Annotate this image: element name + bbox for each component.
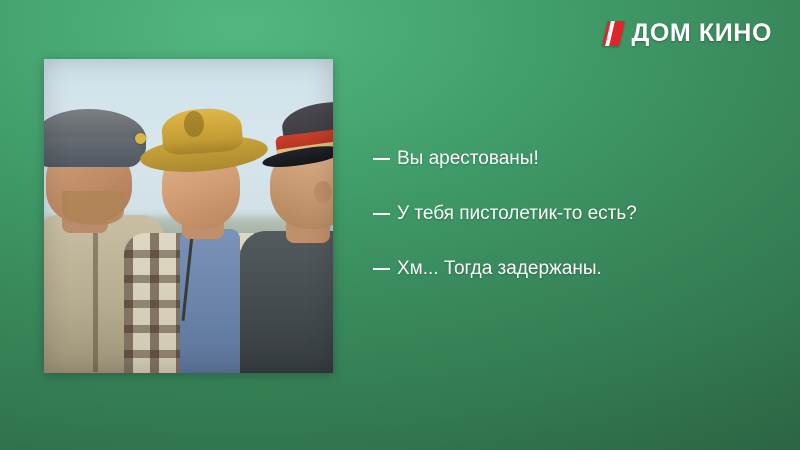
dialogue-line: У тебя пистолетик-то есть? (373, 186, 773, 241)
em-dash-icon (373, 268, 390, 270)
ushanka-man-beard (62, 191, 124, 225)
militia-officer (240, 103, 333, 373)
cowboy-hat-dent (184, 111, 204, 137)
dialogue-block: Вы арестованы! У тебя пистолетик-то есть… (373, 131, 773, 296)
dialogue-line-text: Вы арестованы! (397, 148, 539, 169)
channel-logo-text: ДОМ КИНО (631, 21, 772, 46)
photo-scene (44, 59, 333, 373)
officer-ear (314, 181, 332, 203)
film-still-photo (44, 59, 333, 373)
dialogue-line-text: Хм... Тогда задержаны. (397, 258, 602, 279)
dialogue-line: Хм... Тогда задержаны. (373, 241, 773, 296)
em-dash-icon (373, 213, 390, 215)
dialogue-line: Вы арестованы! (373, 131, 773, 186)
dialogue-line-text: У тебя пистолетик-то есть? (397, 203, 637, 224)
em-dash-icon (373, 158, 390, 160)
screenshot-stage: ДОМ КИНО (0, 0, 800, 450)
officer-uniform-coat (240, 231, 333, 373)
logo-mark-icon (603, 21, 626, 46)
channel-logo: ДОМ КИНО (605, 18, 772, 48)
